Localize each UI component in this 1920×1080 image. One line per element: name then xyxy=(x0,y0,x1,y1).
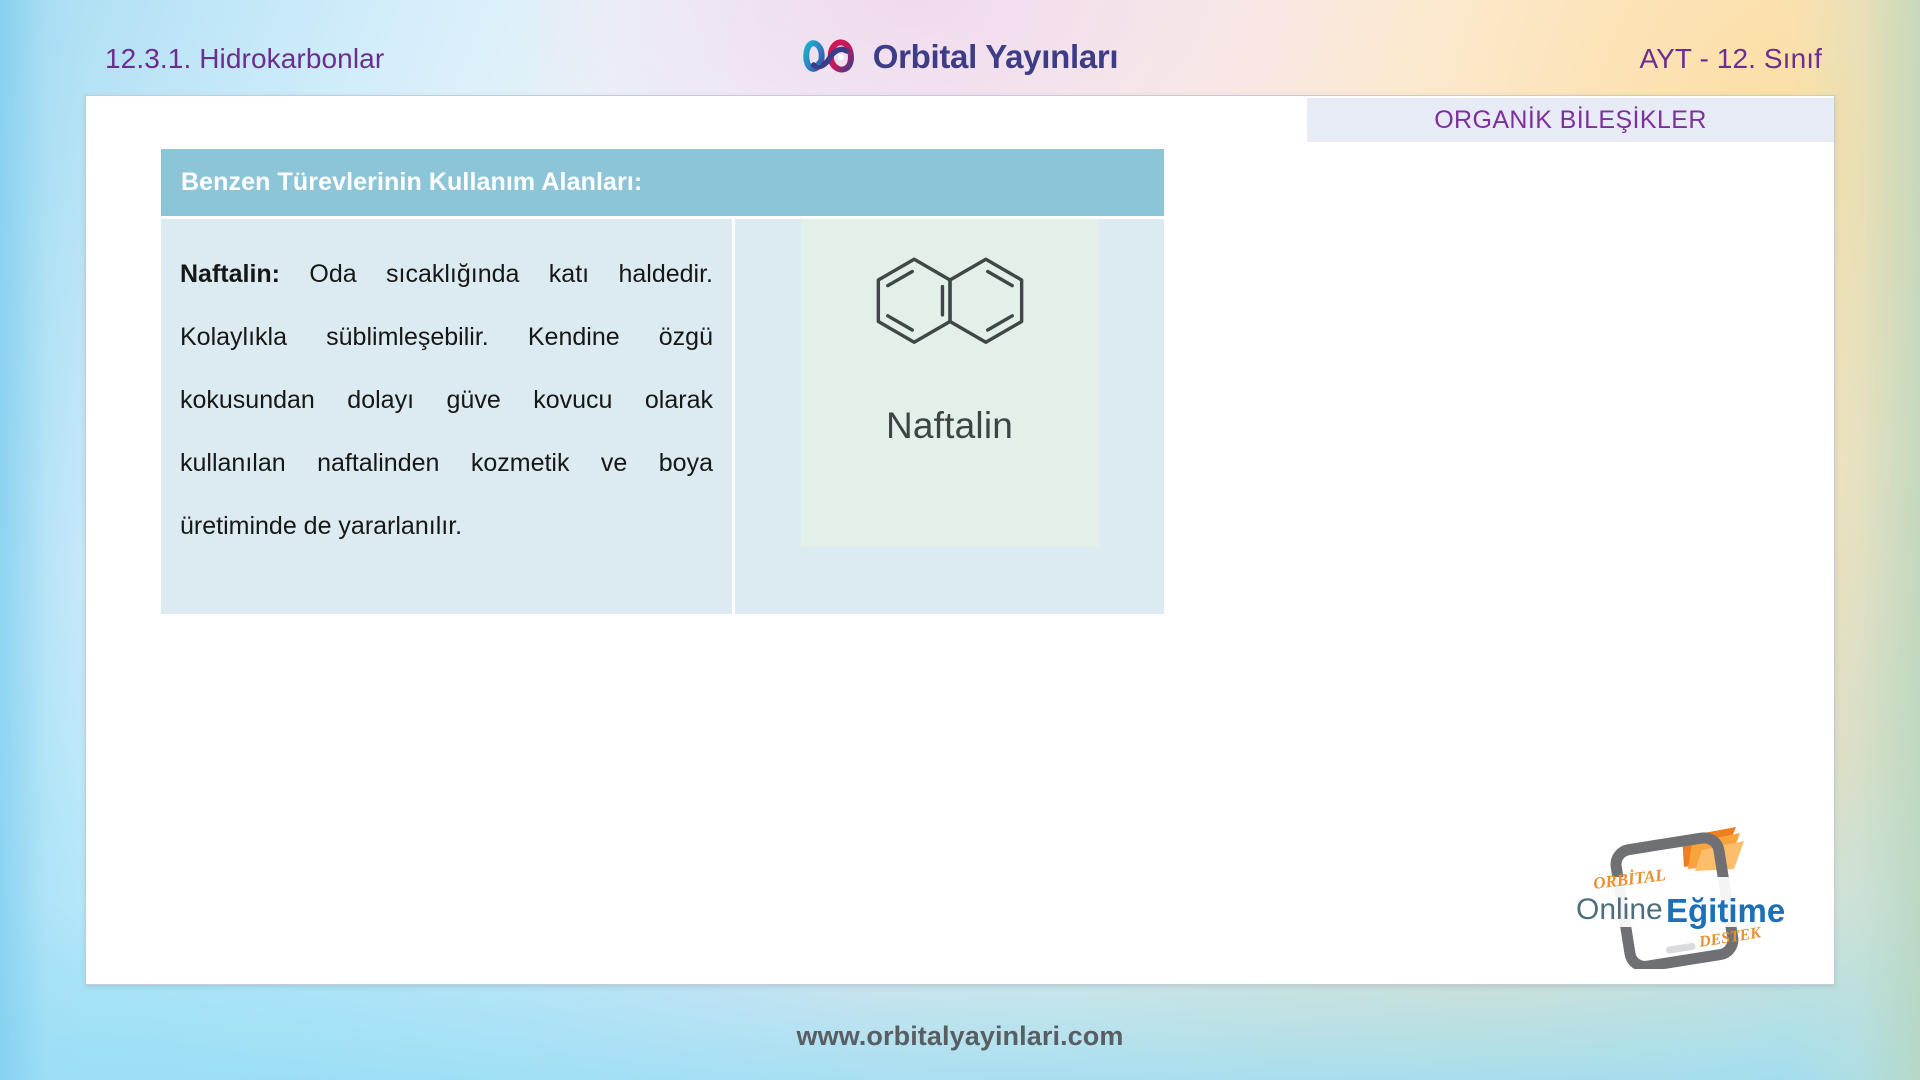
footer: www.orbitalyayinlari.com xyxy=(0,1021,1920,1052)
brand-name: Orbital Yayınları xyxy=(873,40,1119,73)
exam-level-label: AYT - 12. Sınıf xyxy=(1639,43,1822,75)
edu-logo-line-mid-light: Online xyxy=(1576,893,1663,926)
slide-header: 12.3.1. Hidrokarbonlar xyxy=(0,0,1920,95)
slide-root: 12.3.1. Hidrokarbonlar xyxy=(0,0,1920,1080)
topic-tab-label: ORGANİK BİLEŞİKLER xyxy=(1434,106,1707,135)
panel-title: Benzen Türevlerinin Kullanım Alanları: xyxy=(181,168,642,197)
tablet-icon: ORBİTAL Online Eğitime DESTEK xyxy=(1564,821,1786,969)
description-text: Oda sıcaklığında katı haldedir. Kolaylık… xyxy=(180,260,713,540)
infinity-loop-icon xyxy=(802,36,860,76)
figure-caption: Naftalin xyxy=(886,405,1013,447)
description-column: Naftalin: Oda sıcaklığında katı haldedir… xyxy=(161,219,732,614)
edu-logo-line-mid-bold: Eğitime xyxy=(1666,892,1785,929)
figure-column: Naftalin xyxy=(735,219,1164,614)
panel-header: Benzen Türevlerinin Kullanım Alanları: xyxy=(161,149,1164,216)
content-panel: Benzen Türevlerinin Kullanım Alanları: N… xyxy=(161,149,1164,614)
topic-code-label: 12.3.1. Hidrokarbonlar xyxy=(105,43,384,75)
brand-logo: Orbital Yayınları xyxy=(802,36,1119,76)
website-url: www.orbitalyayinlari.com xyxy=(797,1021,1124,1051)
background-left-edge xyxy=(0,0,86,1080)
topic-tab: ORGANİK BİLEŞİKLER xyxy=(1307,98,1834,142)
slide-card: ORGANİK BİLEŞİKLER Benzen Türevlerinin K… xyxy=(85,95,1835,985)
term-label: Naftalin: xyxy=(180,260,280,288)
description-paragraph: Naftalin: Oda sıcaklığında katı haldedir… xyxy=(180,243,713,558)
panel-body: Naftalin: Oda sıcaklığında katı haldedir… xyxy=(161,219,1164,614)
naphthalene-structure-icon xyxy=(849,247,1051,379)
figure-frame: Naftalin xyxy=(801,219,1099,547)
online-education-logo: ORBİTAL Online Eğitime DESTEK xyxy=(1564,821,1786,969)
